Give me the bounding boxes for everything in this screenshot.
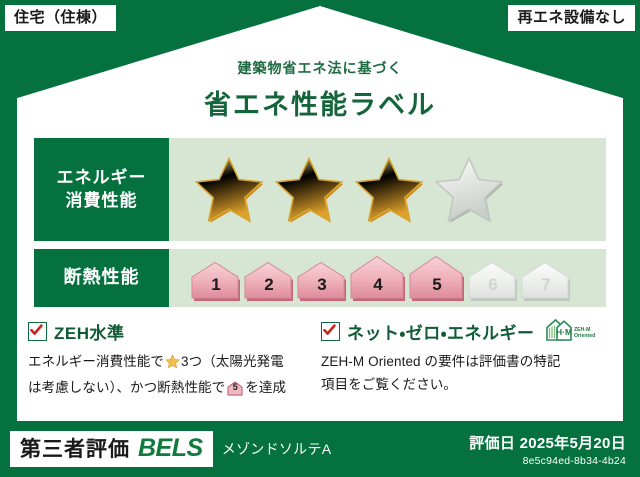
feature-zeh-text-2: 3つ（太陽光発電 [181, 354, 284, 369]
star-filled-icon [351, 153, 427, 227]
house-badge-icon [297, 261, 347, 302]
house-badge-icon [244, 261, 294, 302]
feature-net-zero-line-2: 項目をご覧ください。 [321, 377, 457, 392]
insulation-grade-scale: 1234567 [191, 255, 571, 302]
check-icon [30, 324, 43, 337]
feature-net-zero-energy: ネット・ゼロ・エネルギー H·M ZEH-M Oriented [321, 320, 614, 403]
bels-badge: 第三者評価 BELS [10, 431, 213, 467]
rating-rows: エネルギー 消費性能 断熱性能 1234567 [34, 138, 606, 315]
house-badge-icon [521, 261, 571, 302]
insulation-grade-6: 6 [468, 261, 518, 302]
feature-net-zero-description: ZEH-M Oriented の要件は評価書の特記項目をご覧ください。 [321, 350, 604, 396]
insulation-grade-7: 7 [521, 261, 571, 302]
energy-performance-label: 住宅（住棟） 再エネ設備なし 建築物省エネ法に基づく 省エネ性能ラベル エネルギ… [0, 0, 640, 477]
star-rating [191, 153, 507, 227]
feature-zeh-text-4: を達成 [245, 380, 286, 395]
house-badge-icon [409, 255, 465, 302]
feature-net-zero-title: ネット・ゼロ・エネルギー [347, 319, 535, 344]
inline-house-badge-icon: 5 [227, 380, 243, 403]
feature-zeh-description: エネルギー消費性能で3つ（太陽光発電は考慮しない）、かつ断熱性能で5を達成 [28, 350, 311, 403]
house-badge-icon [191, 261, 241, 302]
star-filled-icon [191, 153, 267, 227]
zeh-m-logo-caption-2: Oriented [574, 333, 595, 339]
feature-section: ZEH水準 エネルギー消費性能で3つ（太陽光発電は考慮しない）、かつ断熱性能で5… [28, 320, 614, 403]
row-insulation-performance: 断熱性能 1234567 [34, 249, 606, 307]
zeh-m-oriented-logo: H·M ZEH-M Oriented [544, 316, 598, 346]
row-energy-label: エネルギー 消費性能 [34, 138, 169, 241]
row-energy-label-line1: エネルギー [57, 167, 147, 189]
certificate-id: 8e5c94ed-8b34-4b24 [469, 455, 626, 467]
page-title: 省エネ性能ラベル [0, 83, 640, 122]
star-filled-icon [271, 153, 347, 227]
house-badge-icon [350, 255, 406, 302]
house-badge-icon [468, 261, 518, 302]
row-insulation-label-text: 断熱性能 [64, 266, 140, 290]
feature-zeh-title: ZEH水準 [54, 319, 125, 344]
star-empty-icon [431, 153, 507, 227]
feature-zeh-text-3: は考慮しない）、かつ断熱性能で [28, 380, 225, 395]
evaluation-date-block: 評価日 2025年5月20日 8e5c94ed-8b34-4b24 [469, 432, 626, 467]
checkbox-net-zero-energy[interactable] [321, 322, 340, 341]
title-subtitle: 建築物省エネ法に基づく [0, 58, 640, 78]
feature-zeh-standard: ZEH水準 エネルギー消費性能で3つ（太陽光発電は考慮しない）、かつ断熱性能で5… [28, 320, 321, 403]
tag-renewable-energy: 再エネ設備なし [508, 5, 635, 31]
footer-bar: 第三者評価 BELS メゾンドソルテA 評価日 2025年5月20日 8e5c9… [0, 421, 640, 477]
third-party-evaluation-label: 第三者評価 [20, 439, 130, 460]
row-energy-value [169, 138, 606, 241]
row-insulation-label: 断熱性能 [34, 249, 169, 307]
bels-logo-text: BELS [138, 436, 203, 461]
evaluation-date: 評価日 2025年5月20日 [469, 432, 626, 453]
feature-net-zero-header: ネット・ゼロ・エネルギー H·M ZEH-M Oriented [321, 320, 604, 342]
check-icon [323, 324, 336, 337]
row-insulation-value: 1234567 [169, 249, 606, 307]
tag-building-type: 住宅（住棟） [5, 5, 116, 31]
row-energy-performance: エネルギー 消費性能 [34, 138, 606, 241]
building-name: メゾンドソルテA [222, 439, 332, 459]
feature-zeh-text-1: エネルギー消費性能で [28, 354, 164, 369]
insulation-grade-2: 2 [244, 261, 294, 302]
zeh-m-logo-text: H·M [556, 327, 572, 337]
inline-star-icon [165, 357, 180, 372]
insulation-grade-3: 3 [297, 261, 347, 302]
title-block: 建築物省エネ法に基づく 省エネ性能ラベル [0, 58, 640, 122]
insulation-grade-5: 5 [409, 255, 465, 302]
inline-house-number: 5 [227, 383, 243, 392]
feature-zeh-header: ZEH水準 [28, 320, 311, 342]
feature-net-zero-line-1: ZEH-M Oriented の要件は評価書の特記 [321, 354, 561, 369]
row-energy-label-line2: 消費性能 [66, 190, 138, 212]
insulation-grade-1: 1 [191, 261, 241, 302]
checkbox-zeh-standard[interactable] [28, 322, 47, 341]
insulation-grade-4: 4 [350, 255, 406, 302]
